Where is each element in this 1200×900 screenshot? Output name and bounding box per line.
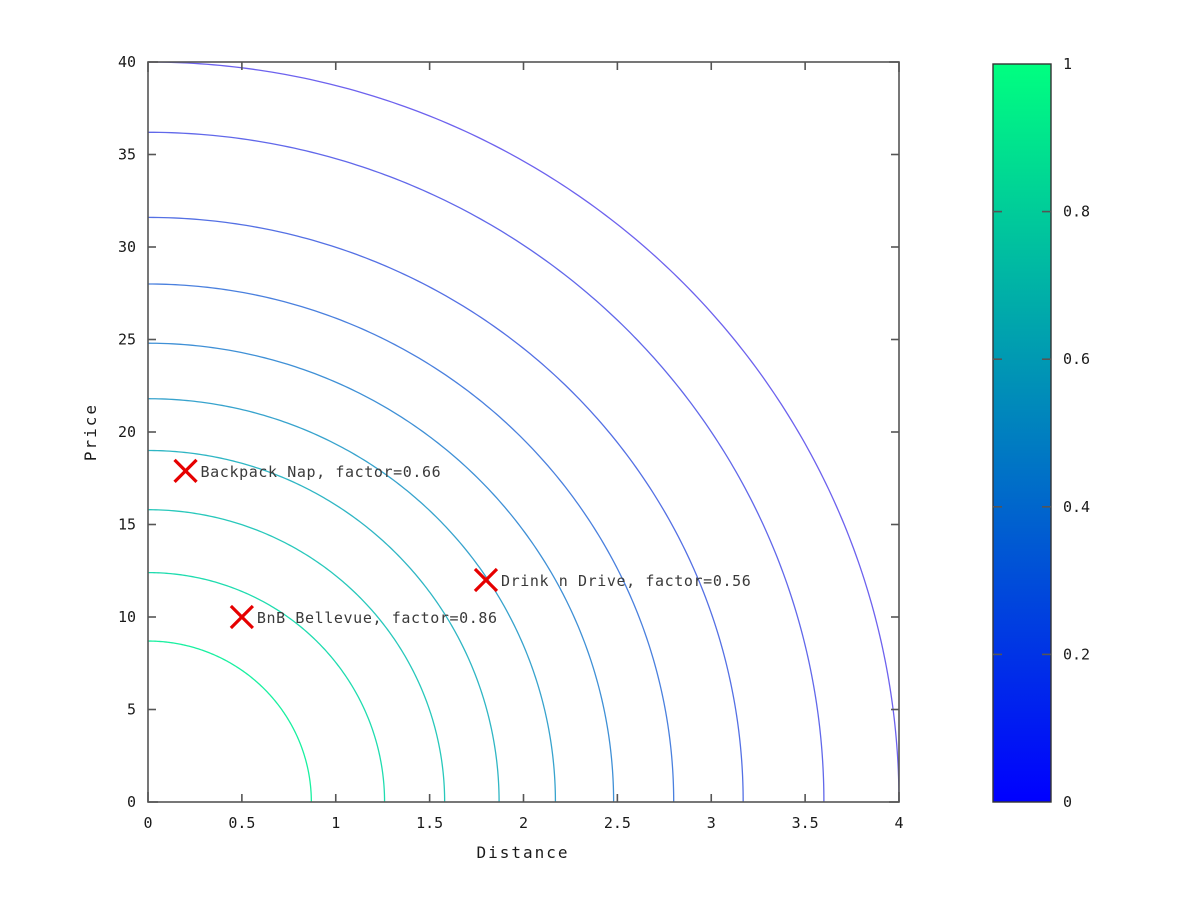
- plot-canvas: 00.511.522.533.54 0510152025303540 Dista…: [0, 0, 1200, 900]
- x-tick-label: 2.5: [604, 814, 631, 832]
- colorbar-tick-label: 0: [1063, 793, 1072, 811]
- y-tick-label: 20: [118, 423, 136, 441]
- data-point-markers: Backpack Nap, factor=0.66Drink n Drive, …: [175, 460, 752, 628]
- contour-line: [148, 284, 674, 802]
- colorbar-tick-label: 0.8: [1063, 203, 1090, 221]
- plot-frame: [148, 62, 899, 802]
- colorbar-tick-label: 0.2: [1063, 645, 1090, 663]
- y-tick-label: 10: [118, 608, 136, 626]
- data-point: Drink n Drive, factor=0.56: [475, 569, 751, 591]
- data-point: Backpack Nap, factor=0.66: [175, 460, 442, 482]
- x-tick-label: 1: [331, 814, 340, 832]
- contour-lines: [148, 62, 899, 802]
- x-tick-label: 4: [894, 814, 903, 832]
- colorbar-tick-label: 0.4: [1063, 498, 1090, 516]
- x-tick-label: 1.5: [416, 814, 443, 832]
- x-tick-label: 3: [707, 814, 716, 832]
- data-point-label: Backpack Nap, factor=0.66: [201, 463, 442, 481]
- x-axis-title: Distance: [476, 843, 569, 862]
- colorbar-tick-label: 1: [1063, 55, 1072, 73]
- y-axis-ticks: 0510152025303540: [118, 53, 899, 811]
- contour-line: [148, 62, 899, 802]
- contour-plot-figure: 00.511.522.533.54 0510152025303540 Dista…: [0, 0, 1200, 900]
- y-tick-label: 40: [118, 53, 136, 71]
- x-tick-label: 0.5: [228, 814, 255, 832]
- data-point-label: BnB Bellevue, factor=0.86: [257, 609, 498, 627]
- x-axis-ticks: 00.511.522.533.54: [143, 62, 903, 832]
- contour-line: [148, 510, 445, 802]
- y-tick-label: 15: [118, 516, 136, 534]
- y-axis-title: Price: [81, 403, 100, 461]
- y-tick-label: 0: [127, 793, 136, 811]
- y-tick-label: 35: [118, 146, 136, 164]
- x-tick-label: 2: [519, 814, 528, 832]
- colorbar-tick-label: 0.6: [1063, 350, 1090, 368]
- data-point-label: Drink n Drive, factor=0.56: [501, 572, 751, 590]
- x-tick-label: 0: [143, 814, 152, 832]
- data-point: BnB Bellevue, factor=0.86: [231, 606, 498, 628]
- colorbar-gradient: [993, 64, 1051, 802]
- contour-line: [148, 573, 385, 802]
- contour-line: [148, 217, 743, 802]
- y-tick-label: 25: [118, 331, 136, 349]
- contour-line: [148, 641, 311, 802]
- x-tick-label: 3.5: [792, 814, 819, 832]
- y-tick-label: 30: [118, 238, 136, 256]
- y-tick-label: 5: [127, 701, 136, 719]
